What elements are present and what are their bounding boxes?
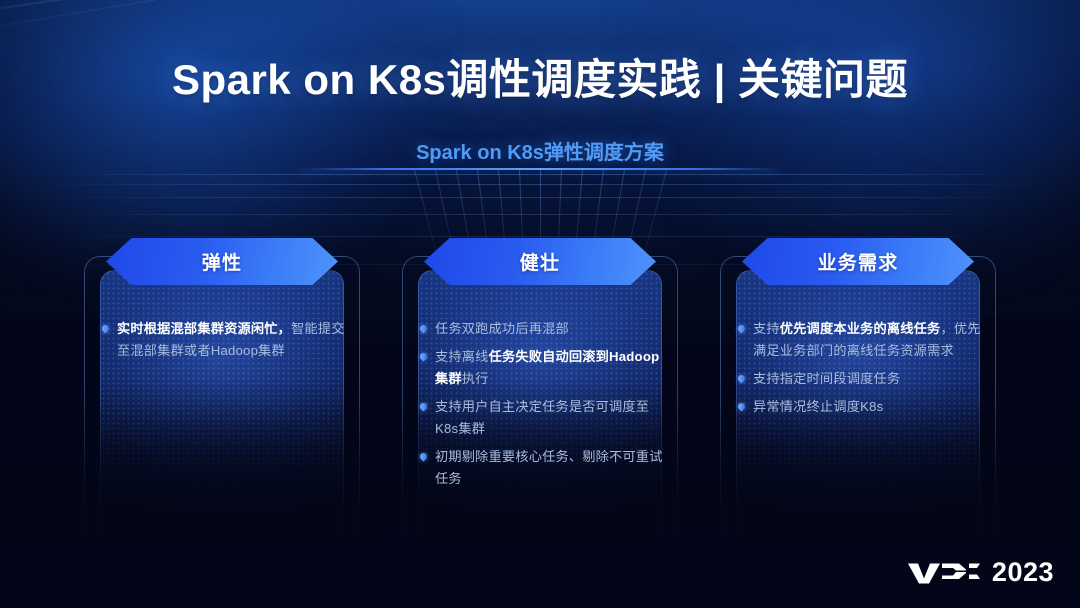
list-item: 支持用户自主决定任务是否可调度至K8s集群 xyxy=(420,396,664,440)
plain-text: 任务双跑成功后再混部 xyxy=(435,321,569,336)
list-item-text: 支持离线任务失败自动回滚到Hadoop集群执行 xyxy=(435,346,664,390)
card-bullet-list: 支持优先调度本业务的离线任务，优先满足业务部门的离线任务资源需求支持指定时间段调… xyxy=(738,318,982,424)
bullet-diamond-icon xyxy=(419,324,429,334)
emphasized-text: 实时根据混部集群资源闲忙， xyxy=(117,321,291,336)
plain-text: 初期剔除重要核心任务、剔除不可重试任务 xyxy=(435,449,663,486)
plain-text: 执行 xyxy=(462,371,489,386)
list-item: 实时根据混部集群资源闲忙，智能提交至混部集群或者Hadoop集群 xyxy=(102,318,346,362)
list-item-text: 支持用户自主决定任务是否可调度至K8s集群 xyxy=(435,396,664,440)
list-item-text: 初期剔除重要核心任务、剔除不可重试任务 xyxy=(435,446,664,490)
bullet-diamond-icon xyxy=(737,374,747,384)
bullet-diamond-icon xyxy=(419,452,429,462)
plain-text: 异常情况终止调度K8s xyxy=(753,399,883,414)
slide-canvas: Spark on K8s调性调度实践 | 关键问题 Spark on K8s弹性… xyxy=(0,0,1080,608)
bullet-diamond-icon xyxy=(101,324,111,334)
card-badge-label: 业务需求 xyxy=(818,248,899,275)
list-item-text: 任务双跑成功后再混部 xyxy=(435,318,569,340)
card-bullet-list: 任务双跑成功后再混部支持离线任务失败自动回滚到Hadoop集群执行支持用户自主决… xyxy=(420,318,664,496)
list-item: 初期剔除重要核心任务、剔除不可重试任务 xyxy=(420,446,664,490)
list-item: 支持指定时间段调度任务 xyxy=(738,368,982,390)
card-badge[interactable]: 业务需求 xyxy=(742,238,974,285)
page-title: Spark on K8s调性调度实践 | 关键问题 xyxy=(0,46,1080,107)
plain-text: 支持用户自主决定任务是否可调度至K8s集群 xyxy=(435,399,649,436)
emphasized-text: 优先调度本业务的离线任务 xyxy=(780,321,941,336)
vdc-logo-icon xyxy=(907,558,981,586)
footer-logo: 2023 xyxy=(907,558,1054,586)
card-badge[interactable]: 弹性 xyxy=(106,238,338,285)
list-item-text: 异常情况终止调度K8s xyxy=(753,396,883,418)
list-item: 任务双跑成功后再混部 xyxy=(420,318,664,340)
bullet-diamond-icon xyxy=(737,324,747,334)
logo-year: 2023 xyxy=(992,558,1054,586)
bullet-diamond-icon xyxy=(737,402,747,412)
list-item-text: 实时根据混部集群资源闲忙，智能提交至混部集群或者Hadoop集群 xyxy=(117,318,346,362)
list-item: 异常情况终止调度K8s xyxy=(738,396,982,418)
bullet-diamond-icon xyxy=(419,352,429,362)
plain-text: 支持 xyxy=(753,321,780,336)
list-item-text: 支持优先调度本业务的离线任务，优先满足业务部门的离线任务资源需求 xyxy=(753,318,982,362)
list-item: 支持优先调度本业务的离线任务，优先满足业务部门的离线任务资源需求 xyxy=(738,318,982,362)
page-subtitle: Spark on K8s弹性调度方案 xyxy=(0,136,1080,165)
card-badge-label: 健壮 xyxy=(520,248,560,275)
list-item: 支持离线任务失败自动回滚到Hadoop集群执行 xyxy=(420,346,664,390)
plain-text: 支持离线 xyxy=(435,349,489,364)
card-badge[interactable]: 健壮 xyxy=(424,238,656,285)
card-badge-label: 弹性 xyxy=(202,248,242,275)
list-item-text: 支持指定时间段调度任务 xyxy=(753,368,900,390)
bullet-diamond-icon xyxy=(419,402,429,412)
card-bullet-list: 实时根据混部集群资源闲忙，智能提交至混部集群或者Hadoop集群 xyxy=(102,318,346,368)
plain-text: 支持指定时间段调度任务 xyxy=(753,371,900,386)
